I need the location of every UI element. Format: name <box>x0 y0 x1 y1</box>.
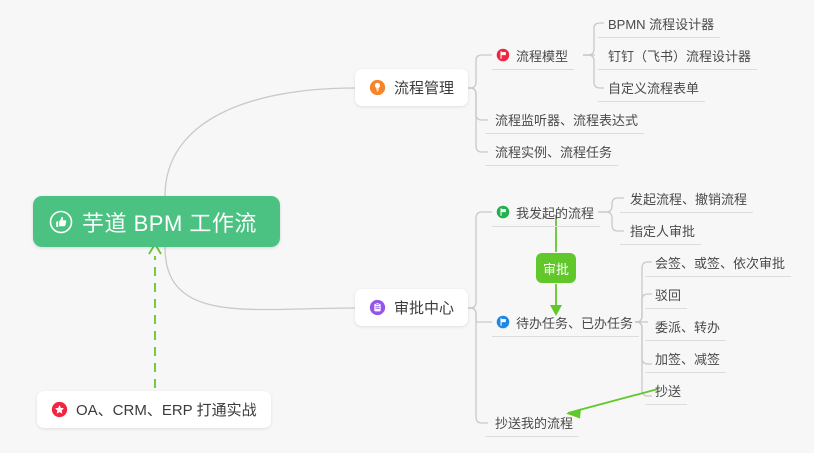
star-icon <box>51 401 68 418</box>
floating-note-label: OA、CRM、ERP 打通实战 <box>76 399 257 420</box>
node-faqi[interactable]: 发起流程、撤销流程 <box>620 184 753 213</box>
node-jianting[interactable]: 流程监听器、流程表达式 <box>485 105 644 134</box>
node-huiqian[interactable]: 会签、或签、依次审批 <box>645 248 791 277</box>
node-zhiding[interactable]: 指定人审批 <box>620 216 701 245</box>
flag-icon <box>496 205 510 219</box>
node-weipai[interactable]: 委派、转办 <box>645 312 726 341</box>
link-spzx-to-chaosongwode <box>461 308 488 423</box>
node-label: 流程模型 <box>516 46 568 65</box>
node-label: 流程实例、流程任务 <box>495 142 612 161</box>
node-shili[interactable]: 流程实例、流程任务 <box>485 137 618 166</box>
branch-label: 审批中心 <box>394 297 454 318</box>
floating-note-oa[interactable]: OA、CRM、ERP 打通实战 <box>37 391 271 428</box>
node-label: BPMN 流程设计器 <box>608 14 714 33</box>
lightbulb-icon <box>369 79 386 96</box>
branch-label: 流程管理 <box>394 77 454 98</box>
node-daiban[interactable]: 待办任务、已办任务 <box>492 308 639 337</box>
node-label: 待办任务、已办任务 <box>516 313 633 332</box>
node-jiaqian[interactable]: 加签、减签 <box>645 344 726 373</box>
link-root-to-liuchengguanli <box>165 88 355 196</box>
node-bpmn[interactable]: BPMN 流程设计器 <box>598 9 720 38</box>
branch-node-liuchengguanli[interactable]: 流程管理 <box>355 69 468 106</box>
branch-node-shenpizhongxin[interactable]: 审批中心 <box>355 289 468 326</box>
node-wofaqi[interactable]: 我发起的流程 <box>492 198 600 227</box>
root-node[interactable]: 芋道 BPM 工作流 <box>33 196 280 247</box>
node-chaosongwode[interactable]: 抄送我的流程 <box>485 408 579 437</box>
flag-icon <box>496 48 510 62</box>
node-label: 钉钉（飞书）流程设计器 <box>608 46 751 65</box>
node-label: 我发起的流程 <box>516 203 594 222</box>
node-label: 抄送我的流程 <box>495 413 573 432</box>
annotation-chip-shenpi[interactable]: 审批 <box>536 253 576 283</box>
node-label: 抄送 <box>655 381 681 400</box>
clipboard-icon <box>369 299 386 316</box>
link-root-to-shenpizhongxin <box>165 247 355 310</box>
node-label: 自定义流程表单 <box>608 78 699 97</box>
node-chaosong[interactable]: 抄送 <box>645 376 687 405</box>
node-label: 会签、或签、依次审批 <box>655 253 785 272</box>
node-label: 委派、转办 <box>655 317 720 336</box>
node-ziding[interactable]: 自定义流程表单 <box>598 73 705 102</box>
chip-label: 审批 <box>543 259 569 278</box>
node-label: 指定人审批 <box>630 221 695 240</box>
node-label: 流程监听器、流程表达式 <box>495 110 638 129</box>
node-label: 加签、减签 <box>655 349 720 368</box>
root-label: 芋道 BPM 工作流 <box>82 206 257 238</box>
thumbs-up-icon <box>49 210 73 234</box>
node-dingding[interactable]: 钉钉（飞书）流程设计器 <box>598 41 757 70</box>
node-label: 发起流程、撤销流程 <box>630 189 747 208</box>
mindmap-canvas: 芋道 BPM 工作流 流程管理 流程模型 BPMN 流程设计器 钉钉（飞书）流程… <box>0 0 814 453</box>
node-bohui[interactable]: 驳回 <box>645 280 687 309</box>
node-label: 驳回 <box>655 285 681 304</box>
flag-icon <box>496 315 510 329</box>
node-liuchengmoxing[interactable]: 流程模型 <box>492 41 574 70</box>
